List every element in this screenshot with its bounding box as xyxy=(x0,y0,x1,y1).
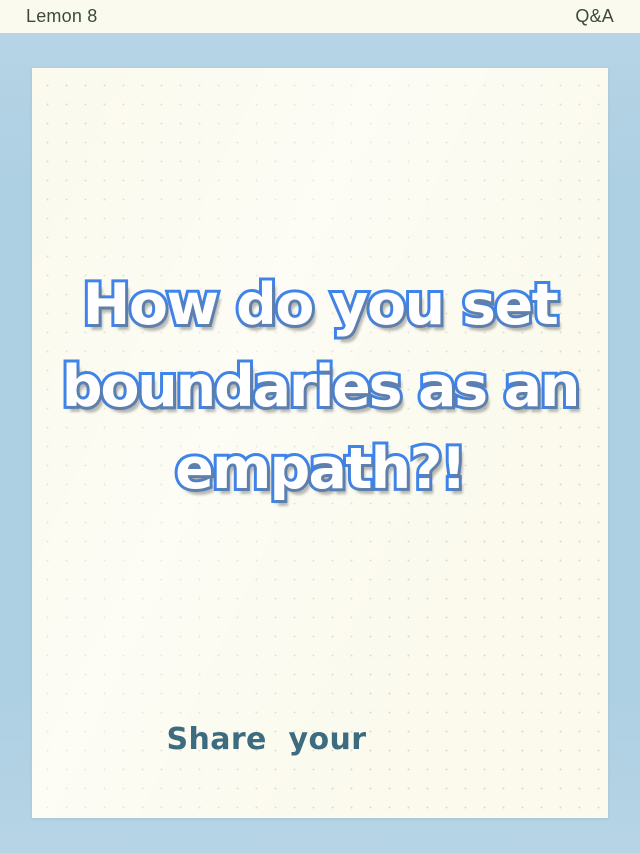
card-frame: How do you set boundaries as an empath?!… xyxy=(0,33,640,853)
headline: How do you set boundaries as an empath?! xyxy=(32,264,608,510)
dotted-paper-canvas: How do you set boundaries as an empath?!… xyxy=(32,68,608,818)
app-bar: Lemon 8 Q&A xyxy=(0,0,640,33)
headline-line-3: empath?! xyxy=(32,428,608,510)
headline-line-1: How do you set xyxy=(32,264,608,346)
prompt-line-1-text: Share your xyxy=(166,722,366,757)
qa-section-label[interactable]: Q&A xyxy=(575,6,614,27)
screen: Lemon 8 Q&A How do you set boundaries as… xyxy=(0,0,640,853)
headline-line-2: boundaries as an xyxy=(32,346,608,428)
prompt-block: Share your experience below! xyxy=(58,665,578,818)
app-brand-label: Lemon 8 xyxy=(26,6,97,27)
prompt-line-1: Share your xyxy=(58,665,366,818)
